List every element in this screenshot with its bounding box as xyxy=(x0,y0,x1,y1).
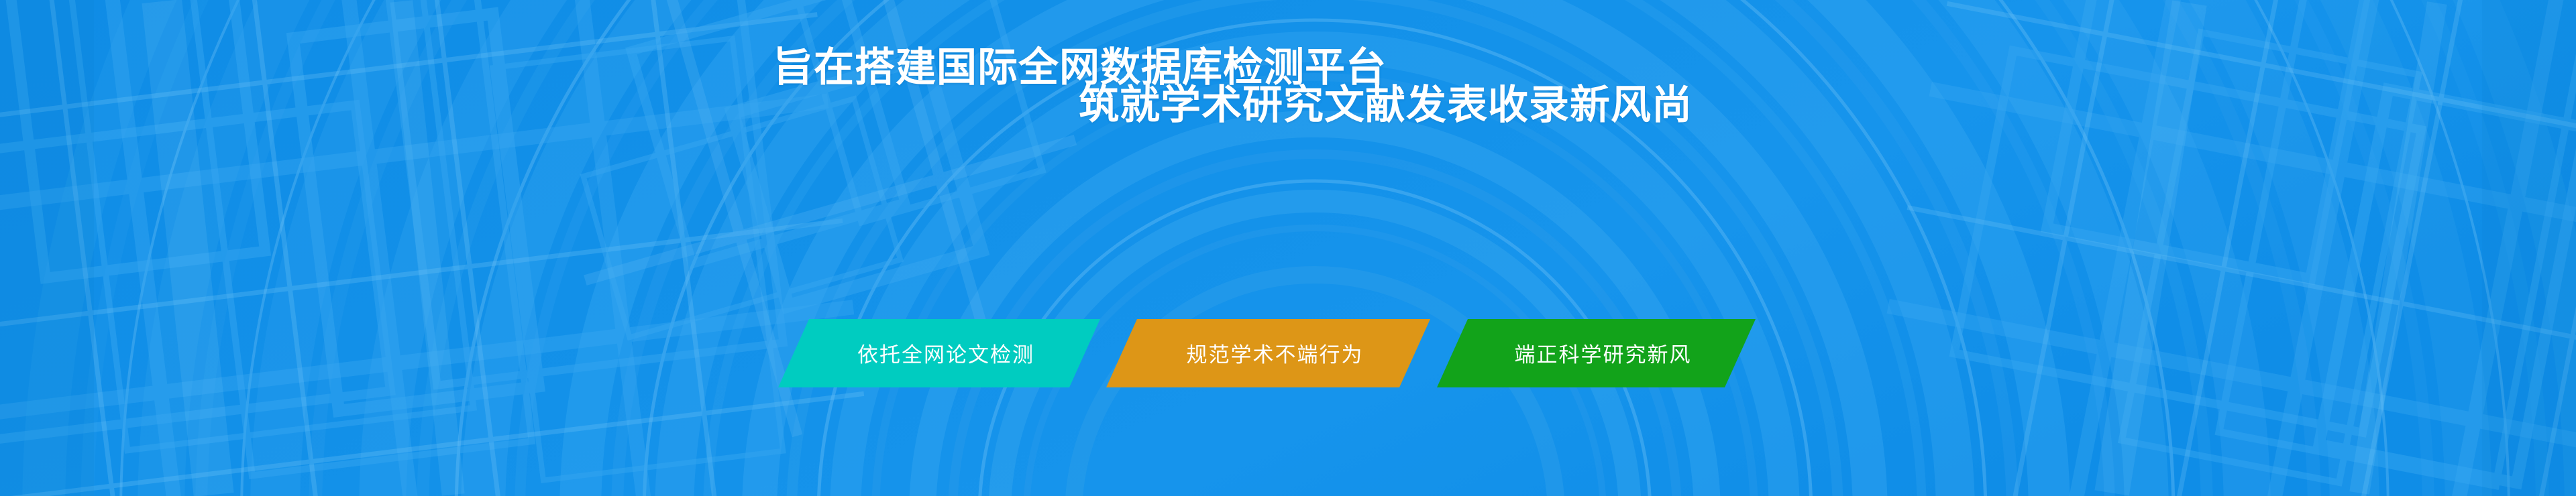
hero-banner: 旨在搭建国际全网数据库检测平台 筑就学术研究文献发表收录新风尚 依托全网论文检测… xyxy=(0,0,2576,496)
feature-tag-2-label: 规范学术不端行为 xyxy=(1187,338,1364,368)
headline-line-1: 旨在搭建国际全网数据库检测平台 xyxy=(773,48,1387,88)
feature-tag-1-label: 依托全网论文检测 xyxy=(857,338,1034,368)
feature-tag-3-label: 端正科学研究新风 xyxy=(1515,338,1692,368)
feature-tag-3[interactable]: 端正科学研究新风 xyxy=(1437,319,1756,387)
headline-group: 旨在搭建国际全网数据库检测平台 筑就学术研究文献发表收录新风尚 xyxy=(0,0,2576,496)
feature-tag-2[interactable]: 规范学术不端行为 xyxy=(1106,319,1430,387)
feature-tag-1[interactable]: 依托全网论文检测 xyxy=(778,319,1100,387)
headline-line-2: 筑就学术研究文献发表收录新风尚 xyxy=(1079,85,1693,125)
